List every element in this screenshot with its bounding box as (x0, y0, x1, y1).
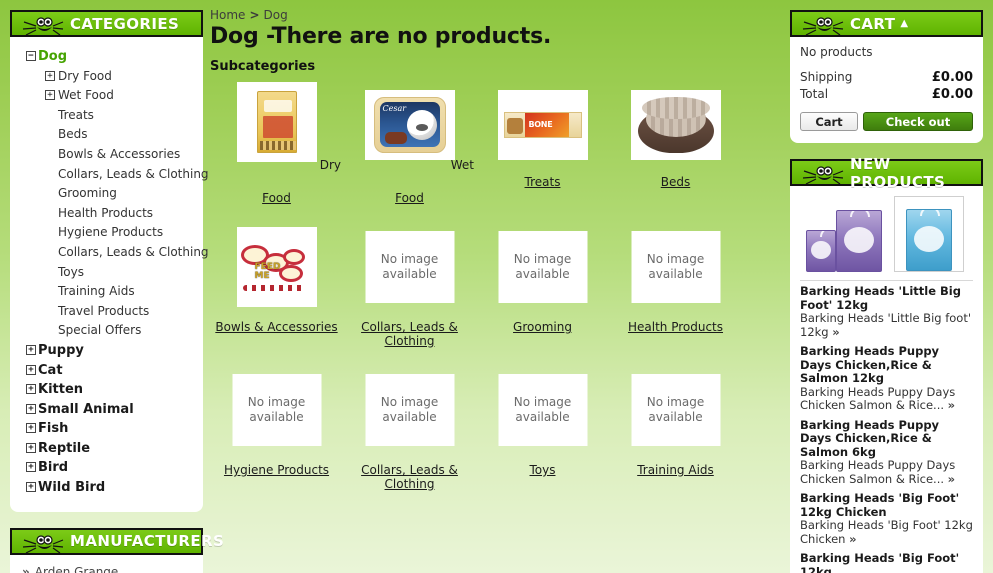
sidebar-category-special-offers[interactable]: Special Offers (18, 321, 195, 341)
new-product-name: Barking Heads Puppy Days Chicken,Rice & … (800, 345, 973, 386)
cart-panel-body: No products Shipping £0.00 Total £0.00 C… (790, 37, 983, 143)
subcategory-cell[interactable]: No imageavailableGrooming (476, 227, 609, 348)
sidebar-category-label: Dry Food (58, 69, 112, 83)
sidebar-category-health-products[interactable]: Health Products (18, 204, 195, 224)
expand-toggle-icon[interactable]: + (26, 443, 36, 453)
new-product-description: Barking Heads 'Little Big foot' 12kg » (800, 312, 973, 339)
sidebar-category-label: Beds (58, 127, 87, 141)
no-image-line2: available (382, 267, 436, 281)
sidebar-category-label: Bird (38, 460, 68, 475)
expand-toggle-icon[interactable]: + (26, 482, 36, 492)
new-product-name: Barking Heads 'Big Foot' 12kg (800, 552, 973, 573)
no-image-line1: No image (514, 252, 572, 266)
new-product-item[interactable]: Barking Heads 'Big Foot' 12kgBarking Hea… (800, 548, 973, 573)
sidebar-category-label: Collars, Leads & Clothing (58, 167, 209, 181)
new-product-description-text: Barking Heads Puppy Days Chicken Salmon … (800, 385, 955, 413)
manufacturer-item[interactable]: »Arden Grange (20, 563, 193, 573)
dog-bed-art (638, 97, 714, 153)
expand-toggle-icon[interactable]: + (26, 384, 36, 394)
sidebar-category-travel-products[interactable]: Travel Products (18, 302, 195, 322)
sidebar-category-label: Grooming (58, 186, 117, 200)
cart-panel: CART ▲ No products Shipping £0.00 Total … (790, 10, 983, 143)
subcategory-thumbnail-wrapper: No imageavailable (476, 370, 609, 460)
subcategory-thumbnail-wrapper: No imageavailable (210, 370, 343, 460)
sidebar-category-training-aids[interactable]: Training Aids (18, 282, 195, 302)
cart-shipping-label: Shipping (800, 70, 852, 85)
chevron-double-right-icon[interactable]: » (832, 325, 839, 339)
cart-shipping-value: £0.00 (932, 70, 973, 85)
sidebar-category-label: Kitten (38, 382, 83, 397)
categories-list: −Dog+Dry Food+Wet FoodTreatsBedsBowls & … (10, 37, 203, 512)
subcategory-thumbnail-wrapper: No imageavailable (609, 227, 742, 317)
no-image-line1: No image (514, 395, 572, 409)
no-image-placeholder[interactable]: No imageavailable (498, 231, 587, 303)
new-product-item[interactable]: Barking Heads 'Big Foot' 12kg ChickenBar… (800, 488, 973, 548)
manufacturers-panel: MANUFACTURERS »Arden Grange (10, 528, 203, 573)
sidebar-category-puppy[interactable]: +Puppy (18, 341, 195, 361)
bug-logo-icon (800, 13, 844, 38)
cart-shipping-row: Shipping £0.00 (800, 69, 973, 86)
sidebar-category-beds[interactable]: Beds (18, 125, 195, 145)
dry-food-bag-art (257, 91, 297, 153)
new-product-description-text: Barking Heads 'Big Foot' 12kg Chicken (800, 518, 973, 546)
new-product-description-text: Barking Heads 'Little Big foot' 12kg (800, 311, 971, 339)
expand-toggle-icon[interactable]: + (45, 71, 55, 81)
sidebar-category-label: Toys (58, 265, 84, 279)
no-image-line2: available (648, 267, 702, 281)
no-image-line2: available (648, 410, 702, 424)
right-sidebar: CART ▲ No products Shipping £0.00 Total … (790, 10, 983, 573)
subcategory-label-part1: Wet (451, 158, 474, 172)
expand-toggle-icon[interactable]: + (26, 423, 36, 433)
subcategory-link[interactable]: Bowls & Accessories (210, 320, 343, 334)
subcategory-link[interactable]: Health Products (609, 320, 742, 334)
subcategory-link[interactable]: Treats (476, 175, 609, 189)
new-products-panel-title: NEW PRODUCTS (850, 155, 981, 191)
sidebar-category-wet-food[interactable]: +Wet Food (18, 86, 195, 106)
chevron-double-right-icon[interactable]: » (849, 532, 856, 546)
sidebar-category-kitten[interactable]: +Kitten (18, 380, 195, 400)
no-image-placeholder[interactable]: No imageavailable (498, 374, 587, 446)
sidebar-category-label: Dog (38, 49, 67, 64)
chevron-double-right-icon[interactable]: » (948, 398, 955, 412)
subcategory-label-part2: Food (210, 191, 343, 205)
subcategory-image[interactable] (631, 90, 721, 160)
new-product-item[interactable]: Barking Heads 'Little Big Foot' 12kgBark… (800, 281, 973, 341)
no-image-line1: No image (248, 395, 306, 409)
no-image-line2: available (382, 410, 436, 424)
subcategory-thumbnail-wrapper: No imageavailable (343, 370, 476, 460)
subcategory-thumbnail-wrapper: FEEDME (210, 227, 343, 317)
sidebar-category-collars-leads-clothing[interactable]: Collars, Leads & Clothing (18, 243, 195, 263)
subcategory-cell[interactable]: DryFood (210, 82, 343, 205)
breadcrumb: Home>Dog (210, 8, 780, 22)
purple-big-bag (836, 210, 882, 272)
subcategory-thumbnail-wrapper: BONE (476, 82, 609, 172)
subcategory-thumbnail-wrapper: No imageavailable (476, 227, 609, 317)
sidebar-category-toys[interactable]: Toys (18, 263, 195, 283)
sidebar-category-dry-food[interactable]: +Dry Food (18, 67, 195, 87)
left-sidebar: CATEGORIES −Dog+Dry Food+Wet FoodTreatsB… (10, 10, 203, 573)
checkout-button[interactable]: Check out (863, 112, 973, 131)
page-title: Dog -There are no products. (210, 24, 780, 49)
subcategory-cell[interactable]: No imageavailableCollars, Leads & Clothi… (343, 227, 476, 348)
sidebar-category-label: Wet Food (58, 88, 114, 102)
sidebar-category-label: Small Animal (38, 402, 134, 417)
sidebar-category-bowls-accessories[interactable]: Bowls & Accessories (18, 145, 195, 165)
no-image-line1: No image (647, 252, 705, 266)
sidebar-category-label: Hygiene Products (58, 225, 163, 239)
subcategory-image[interactable]: BONE (498, 90, 588, 160)
sidebar-category-label: Travel Products (58, 304, 149, 318)
expand-toggle-icon[interactable]: + (26, 345, 36, 355)
subcategory-cell[interactable]: No imageavailableHygiene Products (210, 370, 343, 491)
sidebar-category-bird[interactable]: +Bird (18, 458, 195, 478)
categories-panel: CATEGORIES −Dog+Dry Food+Wet FoodTreatsB… (10, 10, 203, 512)
new-product-description: Barking Heads Puppy Days Chicken Salmon … (800, 459, 973, 486)
subcategory-cell[interactable]: BONETreats (476, 82, 609, 205)
sidebar-category-label: Health Products (58, 206, 153, 220)
subcategory-thumbnail-wrapper: No imageavailable (609, 370, 742, 460)
no-image-line2: available (515, 410, 569, 424)
collapse-toggle-icon[interactable]: − (26, 51, 36, 61)
subcategory-link[interactable]: Collars, Leads & Clothing (343, 463, 476, 491)
subcategory-thumbnail-wrapper: No imageavailable (343, 227, 476, 317)
sidebar-category-label: Treats (58, 108, 94, 122)
sidebar-category-fish[interactable]: +Fish (18, 419, 195, 439)
treats-pack-art: BONE (504, 112, 582, 138)
breadcrumb-separator: > (249, 8, 259, 22)
sidebar-category-dog[interactable]: −Dog (18, 47, 195, 67)
breadcrumb-current[interactable]: Dog (264, 8, 288, 22)
categories-panel-title: CATEGORIES (70, 15, 179, 33)
manufacturers-list: »Arden Grange (10, 555, 203, 573)
cart-total-label: Total (800, 87, 828, 102)
subcategory-cell[interactable]: FEEDMEBowls & Accessories (210, 227, 343, 348)
sidebar-category-label: Collars, Leads & Clothing (58, 245, 209, 259)
new-products-list: Barking Heads 'Little Big Foot' 12kgBark… (800, 281, 973, 573)
bowls-art: FEEDME (239, 237, 315, 297)
no-image-placeholder[interactable]: No imageavailable (631, 374, 720, 446)
no-image-line2: available (515, 267, 569, 281)
subcategory-image[interactable] (237, 82, 317, 162)
sidebar-category-label: Fish (38, 421, 68, 436)
sidebar-category-hygiene-products[interactable]: Hygiene Products (18, 223, 195, 243)
subcategory-link[interactable]: Hygiene Products (210, 463, 343, 477)
cart-button[interactable]: Cart (800, 112, 858, 131)
barking-heads-purple-bags-image[interactable] (806, 194, 884, 274)
expand-toggle-icon[interactable]: + (26, 365, 36, 375)
subcategory-cell[interactable]: CesarWetFood (343, 82, 476, 205)
subcategory-cell[interactable]: No imageavailableCollars, Leads & Clothi… (343, 370, 476, 491)
purple-small-bag (806, 230, 836, 272)
subcategory-link[interactable]: Training Aids (609, 463, 742, 477)
sidebar-category-label: Special Offers (58, 323, 141, 337)
bug-logo-icon (20, 13, 64, 38)
expand-toggle-icon[interactable]: + (45, 90, 55, 100)
sidebar-category-label: Wild Bird (38, 480, 105, 495)
barking-heads-blue-bag-image[interactable] (890, 194, 968, 274)
chevron-up-icon[interactable]: ▲ (900, 18, 908, 29)
new-product-description-text: Barking Heads Puppy Days Chicken Salmon … (800, 458, 955, 486)
subcategories-heading: Subcategories (210, 59, 780, 74)
new-products-body: Barking Heads 'Little Big Foot' 12kgBark… (790, 186, 983, 573)
new-product-description: Barking Heads Puppy Days Chicken Salmon … (800, 386, 973, 413)
sidebar-category-collars-leads-clothing[interactable]: Collars, Leads & Clothing (18, 165, 195, 185)
new-product-item[interactable]: Barking Heads Puppy Days Chicken,Rice & … (800, 415, 973, 489)
main-content: Home>Dog Dog -There are no products. Sub… (210, 8, 780, 573)
chevron-double-right-icon[interactable]: » (948, 472, 955, 486)
wet-food-tray-art: Cesar (374, 97, 446, 153)
sidebar-category-label: Bowls & Accessories (58, 147, 180, 161)
new-product-item[interactable]: Barking Heads Puppy Days Chicken,Rice & … (800, 341, 973, 415)
sidebar-category-reptile[interactable]: +Reptile (18, 439, 195, 459)
subcategory-cell[interactable]: No imageavailableTraining Aids (609, 370, 742, 491)
no-image-line1: No image (647, 395, 705, 409)
no-image-placeholder[interactable]: No imageavailable (631, 231, 720, 303)
subcategory-label-part2: Food (343, 191, 476, 205)
sidebar-category-small-animal[interactable]: +Small Animal (18, 400, 195, 420)
sidebar-category-treats[interactable]: Treats (18, 106, 195, 126)
sidebar-category-label: Cat (38, 363, 63, 378)
bug-logo-icon (20, 531, 64, 556)
new-product-name: Barking Heads 'Big Foot' 12kg Chicken (800, 492, 973, 519)
subcategory-label-part1: Dry (320, 158, 341, 172)
no-image-line1: No image (381, 395, 439, 409)
subcategory-thumbnail-wrapper (609, 82, 742, 172)
cart-buttons: Cart Check out (800, 112, 973, 131)
expand-toggle-icon[interactable]: + (26, 462, 36, 472)
subcategory-image[interactable]: FEEDME (237, 227, 317, 307)
no-image-line1: No image (381, 252, 439, 266)
expand-toggle-icon[interactable]: + (26, 404, 36, 414)
subcategory-link[interactable]: Grooming (476, 320, 609, 334)
manufacturer-label: Arden Grange (35, 565, 119, 573)
sidebar-category-label: Puppy (38, 343, 84, 358)
cart-panel-header[interactable]: CART ▲ (790, 10, 983, 37)
cart-panel-title: CART (850, 15, 895, 33)
new-product-name: Barking Heads 'Little Big Foot' 12kg (800, 285, 973, 312)
no-image-placeholder[interactable]: No imageavailable (232, 374, 321, 446)
new-product-description: Barking Heads 'Big Foot' 12kg Chicken » (800, 519, 973, 546)
new-products-panel: NEW PRODUCTS Barkin (790, 159, 983, 573)
subcategory-link[interactable]: Toys (476, 463, 609, 477)
no-image-line2: available (249, 410, 303, 424)
no-image-placeholder[interactable]: No imageavailable (365, 374, 454, 446)
new-product-name: Barking Heads Puppy Days Chicken,Rice & … (800, 419, 973, 460)
subcategory-cell[interactable]: Beds (609, 82, 742, 205)
subcategory-link[interactable]: DryFood (210, 191, 343, 205)
manufacturers-panel-header: MANUFACTURERS (10, 528, 203, 555)
new-products-thumbnails (800, 190, 973, 281)
subcategory-cell[interactable]: No imageavailableHealth Products (609, 227, 742, 348)
sidebar-category-wild-bird[interactable]: +Wild Bird (18, 478, 195, 498)
sidebar-category-grooming[interactable]: Grooming (18, 184, 195, 204)
subcategory-cell[interactable]: No imageavailableToys (476, 370, 609, 491)
subcategories-grid: DryFoodCesarWetFoodBONETreatsBedsFEEDMEB… (210, 82, 780, 513)
no-image-placeholder[interactable]: No imageavailable (365, 231, 454, 303)
new-products-panel-header: NEW PRODUCTS (790, 159, 983, 186)
manufacturers-panel-title: MANUFACTURERS (70, 532, 224, 550)
sidebar-category-label: Training Aids (58, 284, 135, 298)
cart-total-row: Total £0.00 (800, 86, 973, 103)
blue-bag (906, 209, 952, 271)
cart-total-value: £0.00 (932, 87, 973, 102)
subcategory-link[interactable]: Collars, Leads & Clothing (343, 320, 476, 348)
subcategory-image[interactable]: Cesar (365, 90, 455, 160)
sidebar-category-label: Reptile (38, 441, 90, 456)
cart-empty-text: No products (800, 45, 973, 59)
subcategory-link[interactable]: Beds (609, 175, 742, 189)
breadcrumb-home[interactable]: Home (210, 8, 245, 22)
sidebar-category-cat[interactable]: +Cat (18, 361, 195, 381)
categories-panel-header: CATEGORIES (10, 10, 203, 37)
bug-logo-icon (800, 162, 844, 187)
chevron-double-right-icon: » (22, 565, 30, 573)
page-root: CATEGORIES −Dog+Dry Food+Wet FoodTreatsB… (0, 0, 993, 573)
subcategory-link[interactable]: WetFood (343, 191, 476, 205)
